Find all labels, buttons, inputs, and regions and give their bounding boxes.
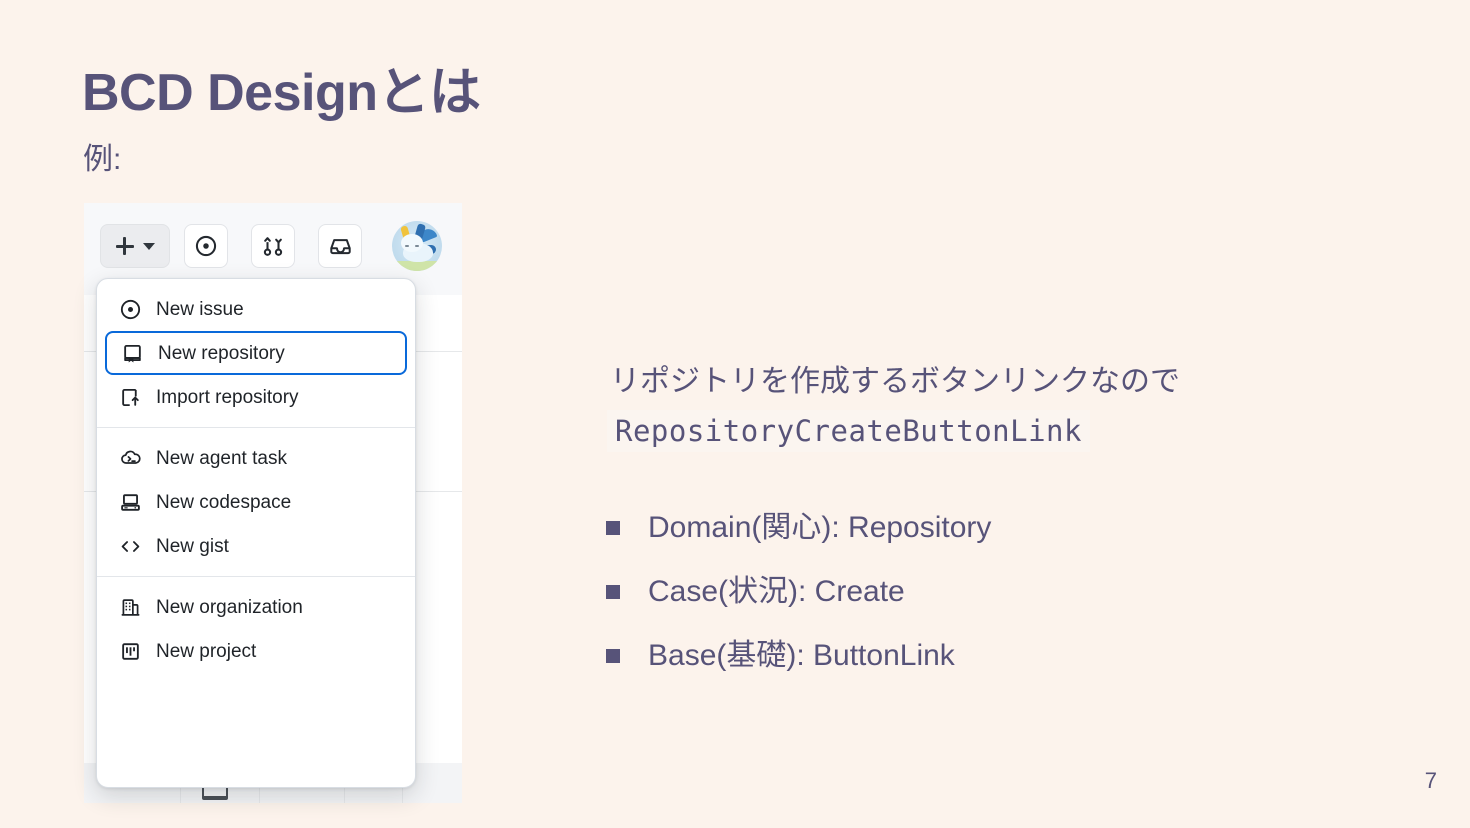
notifications-button[interactable] <box>318 224 362 268</box>
menu-item-label: New repository <box>158 344 285 363</box>
issues-icon <box>195 235 217 257</box>
list-item-label: Domain(関心): Repository <box>648 513 991 543</box>
menu-item-label: New gist <box>156 537 229 556</box>
menu-item-label: Import repository <box>156 388 299 407</box>
list-item-label: Case(状況): Create <box>648 577 905 607</box>
create-new-button[interactable] <box>100 224 170 268</box>
code-icon <box>119 535 141 557</box>
pull-requests-button[interactable] <box>251 224 295 268</box>
codespaces-icon <box>119 491 141 513</box>
menu-group-repositories: New issue New repository <box>97 279 415 427</box>
menu-group-organization: New organization New project <box>97 577 415 681</box>
inbox-icon <box>329 235 352 258</box>
avatar-eye-left <box>405 245 409 247</box>
project-icon <box>119 640 141 662</box>
menu-item-label: New issue <box>156 300 244 319</box>
explanation-description: リポジトリを作成するボタンリンクなので <box>610 362 1180 403</box>
bullet-marker-icon <box>606 585 620 599</box>
repo-icon <box>121 342 143 364</box>
list-item-label: Base(基礎): ButtonLink <box>648 641 955 671</box>
issues-button[interactable] <box>184 224 228 268</box>
bullet-marker-icon <box>606 649 620 663</box>
copilot-agent-icon <box>119 447 141 469</box>
menu-item-new-issue[interactable]: New issue <box>97 287 415 331</box>
bullet-marker-icon <box>606 521 620 535</box>
list-item: Base(基礎): ButtonLink <box>606 624 991 688</box>
breakdown-list: Domain(関心): Repository Case(状況): Create … <box>606 496 991 688</box>
menu-item-label: New agent task <box>156 449 287 468</box>
avatar[interactable] <box>392 221 442 271</box>
pull-requests-icon <box>262 235 284 257</box>
chevron-down-icon <box>143 243 155 250</box>
list-item: Domain(関心): Repository <box>606 496 991 560</box>
menu-item-new-organization[interactable]: New organization <box>97 585 415 629</box>
menu-item-new-gist[interactable]: New gist <box>97 524 415 568</box>
menu-item-new-agent-task[interactable]: New agent task <box>97 436 415 480</box>
organization-icon <box>119 596 141 618</box>
page-title: BCD Designとは <box>82 64 480 124</box>
issue-opened-icon <box>119 298 141 320</box>
menu-item-label: New codespace <box>156 493 291 512</box>
component-name-code: RepositoryCreateButtonLink <box>607 410 1090 452</box>
list-item: Case(状況): Create <box>606 560 991 624</box>
menu-item-new-codespace[interactable]: New codespace <box>97 480 415 524</box>
menu-item-new-project[interactable]: New project <box>97 629 415 673</box>
repo-push-icon <box>119 386 141 408</box>
slide: BCD Designとは 例: <box>0 0 1470 828</box>
menu-item-label: New project <box>156 642 256 661</box>
menu-item-new-repository[interactable]: New repository <box>105 331 407 375</box>
menu-group-dev-environments: New agent task New codespace <box>97 428 415 576</box>
page-number: 7 <box>1425 768 1437 794</box>
avatar-eye-right <box>415 245 419 247</box>
plus-icon <box>116 237 134 255</box>
avatar-grass <box>392 261 442 271</box>
avatar-head <box>401 234 423 252</box>
create-new-dropdown-menu: New issue New repository <box>96 278 416 788</box>
menu-item-import-repository[interactable]: Import repository <box>97 375 415 419</box>
menu-item-label: New organization <box>156 598 303 617</box>
example-label: 例: <box>83 142 121 178</box>
